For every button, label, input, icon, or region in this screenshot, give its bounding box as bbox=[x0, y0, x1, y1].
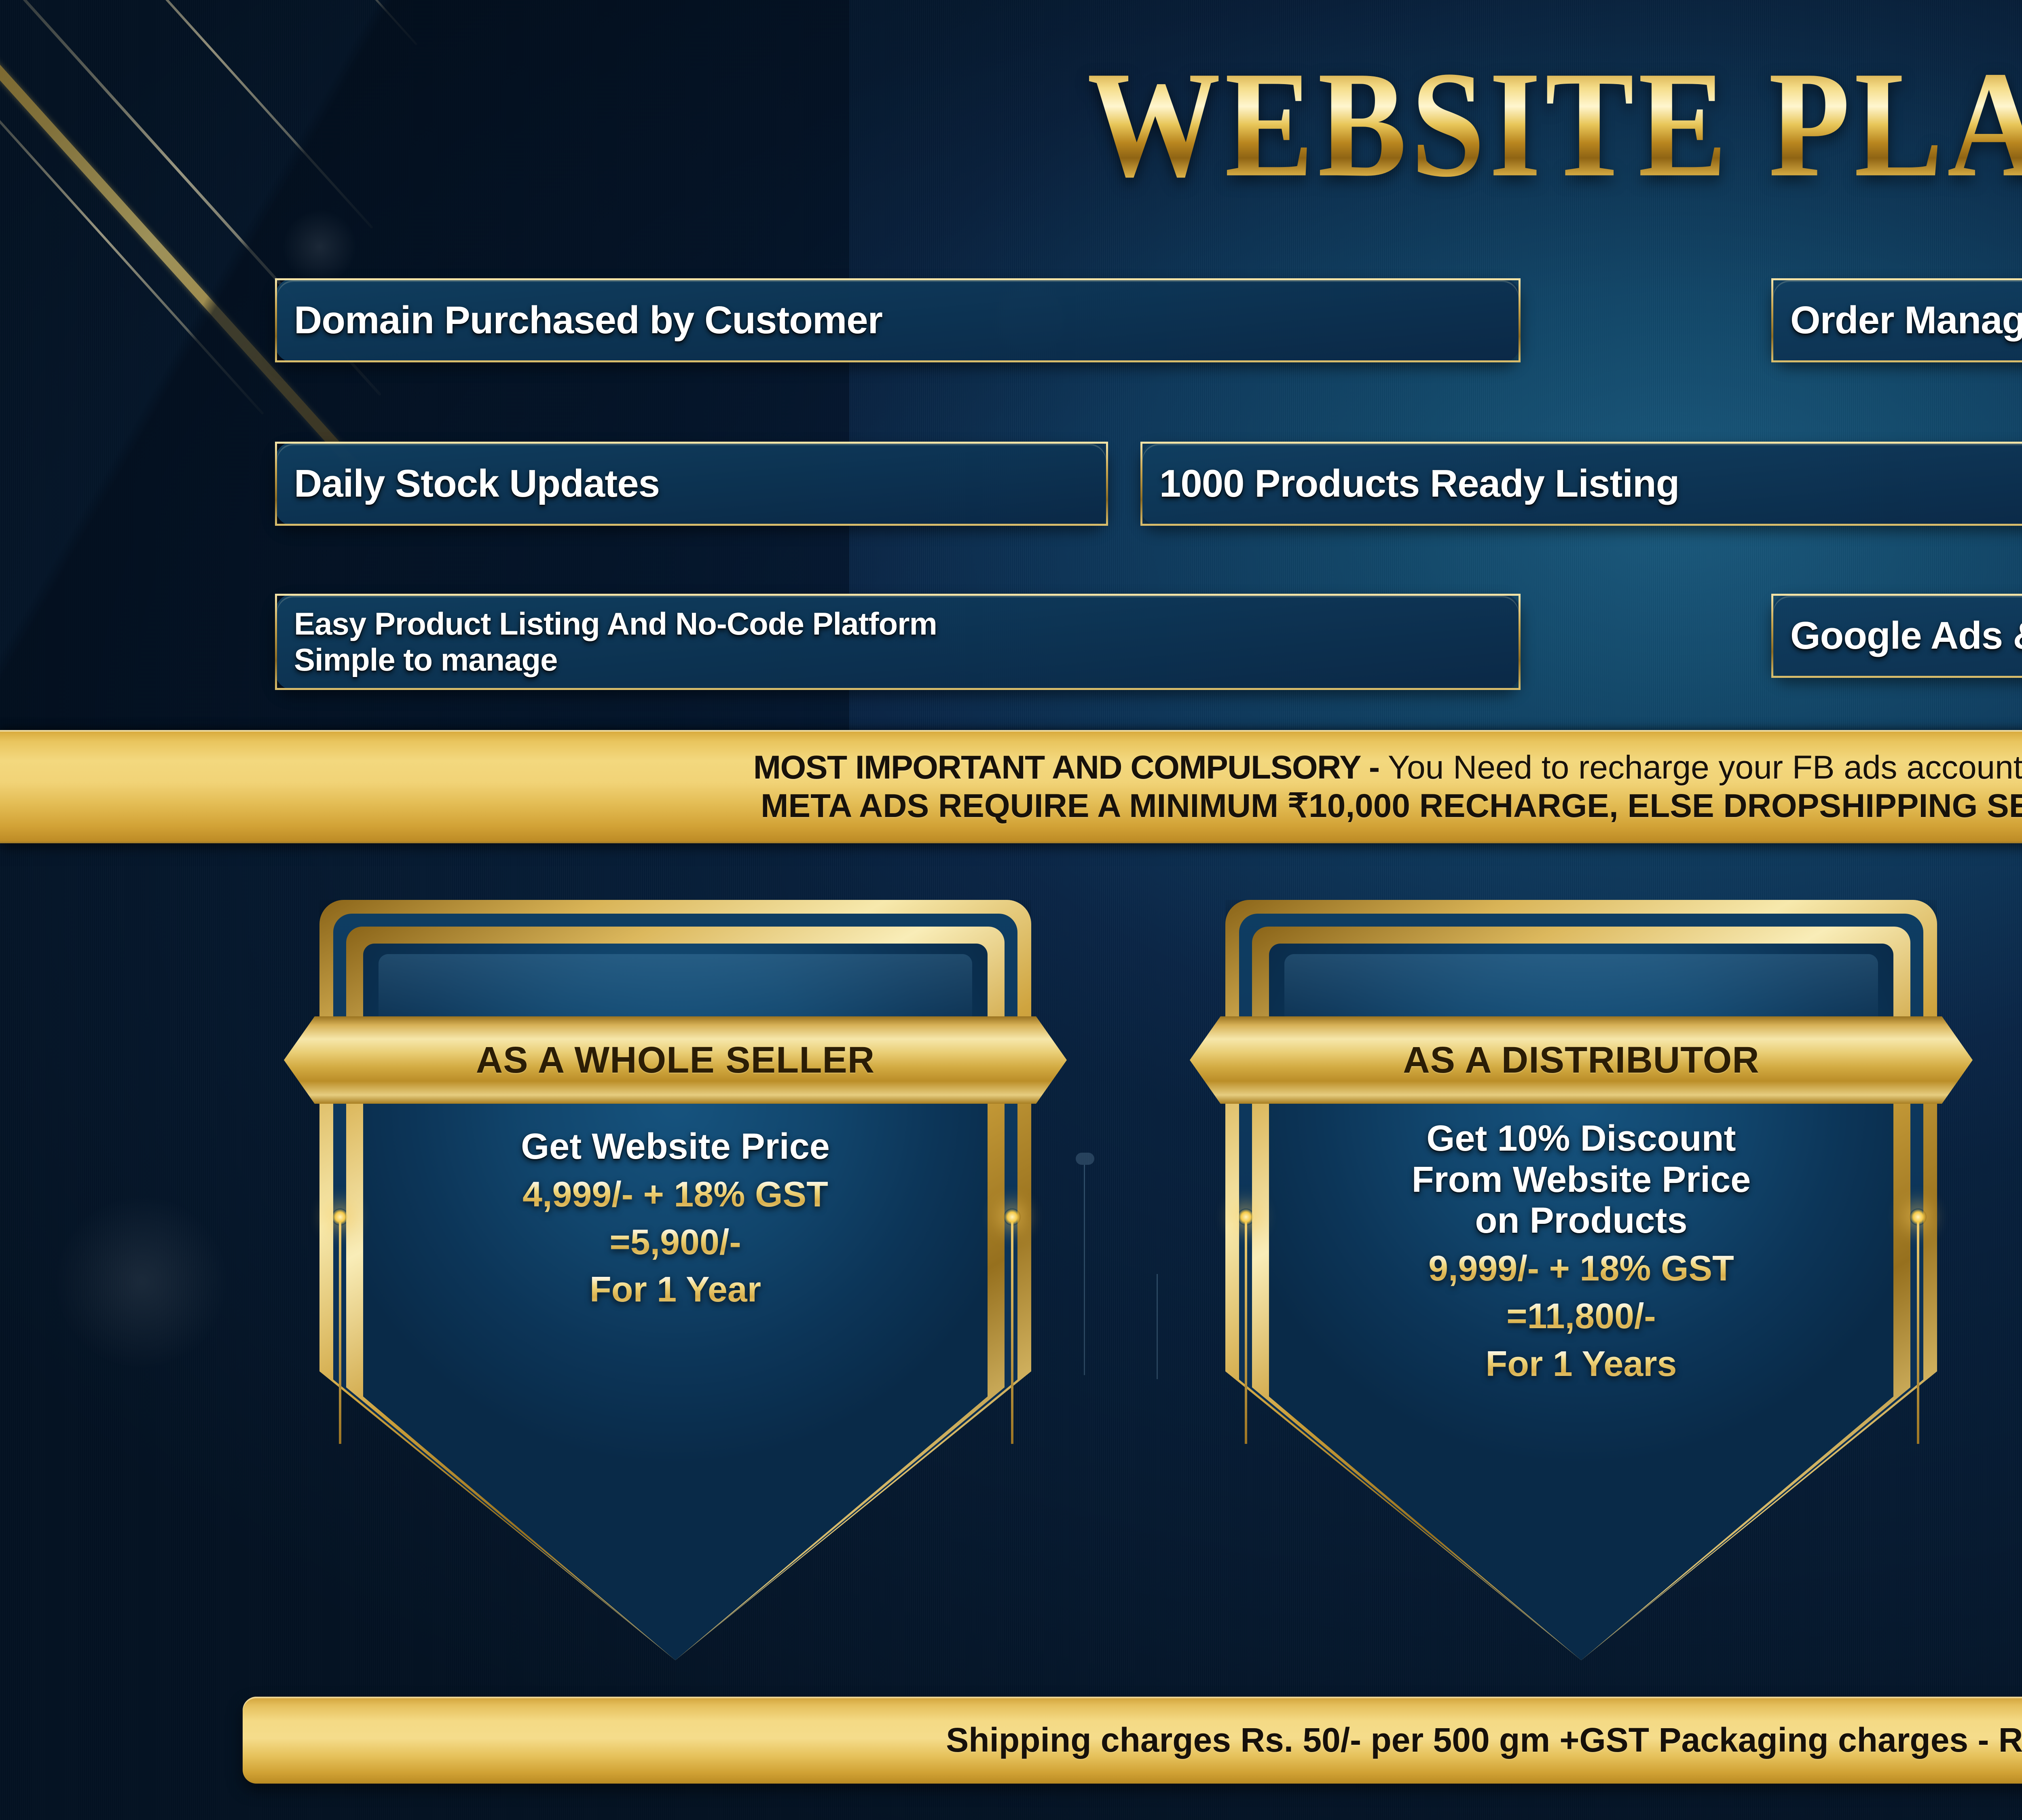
notice-line-2: META ADS REQUIRE A MINIMUM ₹10,000 RECHA… bbox=[761, 787, 2022, 825]
feature-label: Domain Purchased by Customer bbox=[294, 301, 882, 341]
glow-pin-line bbox=[1917, 1217, 1919, 1444]
plan-price-line: 4,999/- + 18% GST bbox=[380, 1173, 971, 1215]
plan-card-distributor[interactable]: AS A DISTRIBUTOR Get 10% Discount From W… bbox=[1225, 900, 1937, 1660]
glow-pin-light bbox=[1004, 1208, 1021, 1225]
circuit-line bbox=[1084, 1165, 1085, 1375]
plan-duration-line: For 1 Year bbox=[380, 1268, 971, 1310]
notice-line-1: MOST IMPORTANT AND COMPULSORY - You Need… bbox=[753, 748, 2022, 787]
feature-google-ads-meta-pixel[interactable]: Google Ads & Meta Pixel Integration bbox=[1771, 594, 2022, 678]
feature-label: Daily Stock Updates bbox=[294, 464, 660, 504]
glow-pin-line bbox=[1011, 1217, 1013, 1444]
notice-lead: MOST IMPORTANT AND COMPULSORY - bbox=[753, 749, 1388, 786]
plan-description-line: From Website Price bbox=[1286, 1160, 1876, 1201]
poster-canvas: WEBSITE PLAN Domain Purchased by Custome… bbox=[0, 0, 2022, 1820]
plan-total-line: =5,900/- bbox=[380, 1221, 971, 1263]
glow-pin-line bbox=[1245, 1217, 1247, 1444]
shipping-charges-label: Shipping charges Rs. 50/- per 500 gm +GS… bbox=[946, 1721, 2022, 1760]
plan-card-whole-seller[interactable]: AS A WHOLE SELLER Get Website Price 4,99… bbox=[319, 900, 1031, 1660]
plan-description-line: Get Website Price bbox=[380, 1126, 971, 1168]
glow-pin-light bbox=[1910, 1208, 1927, 1225]
feature-label: Google Ads & Meta Pixel Integration bbox=[1790, 616, 2022, 656]
plan-body: Get Website Price 4,999/- + 18% GST =5,9… bbox=[380, 1126, 971, 1310]
plan-duration-line: For 1 Years bbox=[1286, 1343, 1876, 1385]
feature-order-management-panel[interactable]: Order Management Panel No Monthly Hostin… bbox=[1771, 278, 2022, 362]
circuit-pad bbox=[1076, 1153, 1094, 1165]
page-title: WEBSITE PLAN bbox=[0, 49, 2022, 201]
glow-pin-light bbox=[1237, 1208, 1254, 1225]
shipping-charges-bar: Shipping charges Rs. 50/- per 500 gm +GS… bbox=[243, 1697, 2022, 1784]
feature-label: Order Management Panel bbox=[1790, 301, 2022, 341]
plan-ribbon: AS A WHOLE SELLER bbox=[284, 1016, 1067, 1104]
circuit-line bbox=[1157, 1274, 1158, 1379]
plan-total-line: =11,800/- bbox=[1286, 1295, 1876, 1337]
plan-price-line: 9,999/- + 18% GST bbox=[1286, 1247, 1876, 1289]
feature-domain-purchased[interactable]: Domain Purchased by Customer bbox=[275, 278, 1521, 362]
feature-daily-stock-updates[interactable]: Daily Stock Updates bbox=[275, 442, 1108, 526]
important-notice-banner: MOST IMPORTANT AND COMPULSORY - You Need… bbox=[0, 730, 2022, 843]
plan-description-line: Get 10% Discount bbox=[1286, 1118, 1876, 1160]
bokeh-light bbox=[283, 210, 356, 283]
plan-ribbon-label: AS A DISTRIBUTOR bbox=[1403, 1039, 1760, 1081]
feature-label: Easy Product Listing And No-Code Platfor… bbox=[294, 606, 937, 678]
glow-pin-light bbox=[332, 1208, 349, 1225]
plan-ribbon-label: AS A WHOLE SELLER bbox=[476, 1039, 875, 1081]
plan-ribbon: AS A DISTRIBUTOR bbox=[1190, 1016, 1973, 1104]
feature-products-ready-listing[interactable]: 1000 Products Ready Listing bbox=[1140, 442, 2022, 526]
plan-body: Get 10% Discount From Website Price on P… bbox=[1286, 1118, 1876, 1385]
feature-easy-product-listing[interactable]: Easy Product Listing And No-Code Platfor… bbox=[275, 594, 1521, 690]
notice-rest: You Need to recharge your FB ads account… bbox=[1388, 749, 2022, 786]
plan-description-line: on Products bbox=[1286, 1200, 1876, 1242]
glow-pin-line bbox=[339, 1217, 341, 1444]
bokeh-light bbox=[57, 1197, 226, 1367]
corner-stripe-thin-4 bbox=[172, 0, 417, 45]
feature-label: 1000 Products Ready Listing bbox=[1159, 464, 1679, 504]
